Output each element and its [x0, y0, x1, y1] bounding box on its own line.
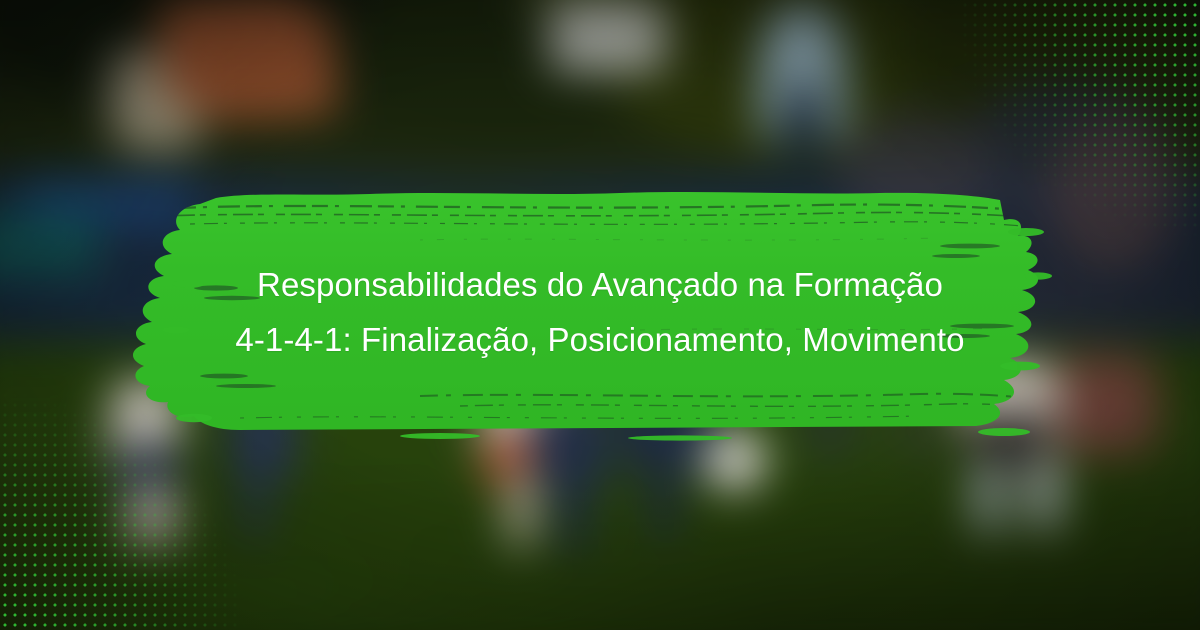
- title-line-1: Responsabilidades do Avançado na Formaçã…: [257, 262, 943, 309]
- card-title: Responsabilidades do Avançado na Formaçã…: [120, 180, 1080, 445]
- title-line-2: 4-1-4-1: Finalização, Posicionamento, Mo…: [235, 317, 964, 364]
- share-card: Responsabilidades do Avançado na Formaçã…: [0, 0, 1200, 630]
